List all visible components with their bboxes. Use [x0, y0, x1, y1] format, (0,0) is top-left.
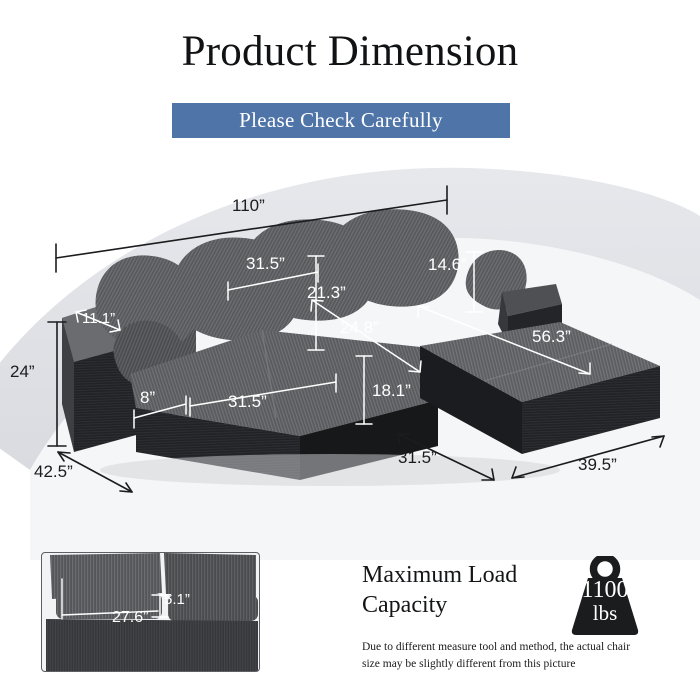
disclaimer-line1: Due to different measure tool and method…: [362, 639, 667, 656]
weight-unit: lbs: [566, 603, 644, 624]
cushion-detail-inset: 27.6” 5.1”: [41, 552, 260, 672]
measurement-disclaimer: Due to different measure tool and method…: [362, 639, 667, 673]
sofa-illustration: [0, 0, 700, 560]
disclaimer-line2: size may be slightly different from this…: [362, 656, 667, 673]
weight-value: 1100: [566, 578, 644, 602]
product-dimension-infographic: Product Dimension Please Check Carefully: [0, 0, 700, 700]
max-load-heading-line2: Capacity: [362, 590, 572, 620]
cushion-detail-illustration: [42, 553, 259, 671]
weight-icon: 1100 lbs: [566, 556, 644, 636]
max-load-heading: Maximum Load Capacity: [362, 560, 572, 620]
max-load-heading-line1: Maximum Load: [362, 560, 572, 590]
